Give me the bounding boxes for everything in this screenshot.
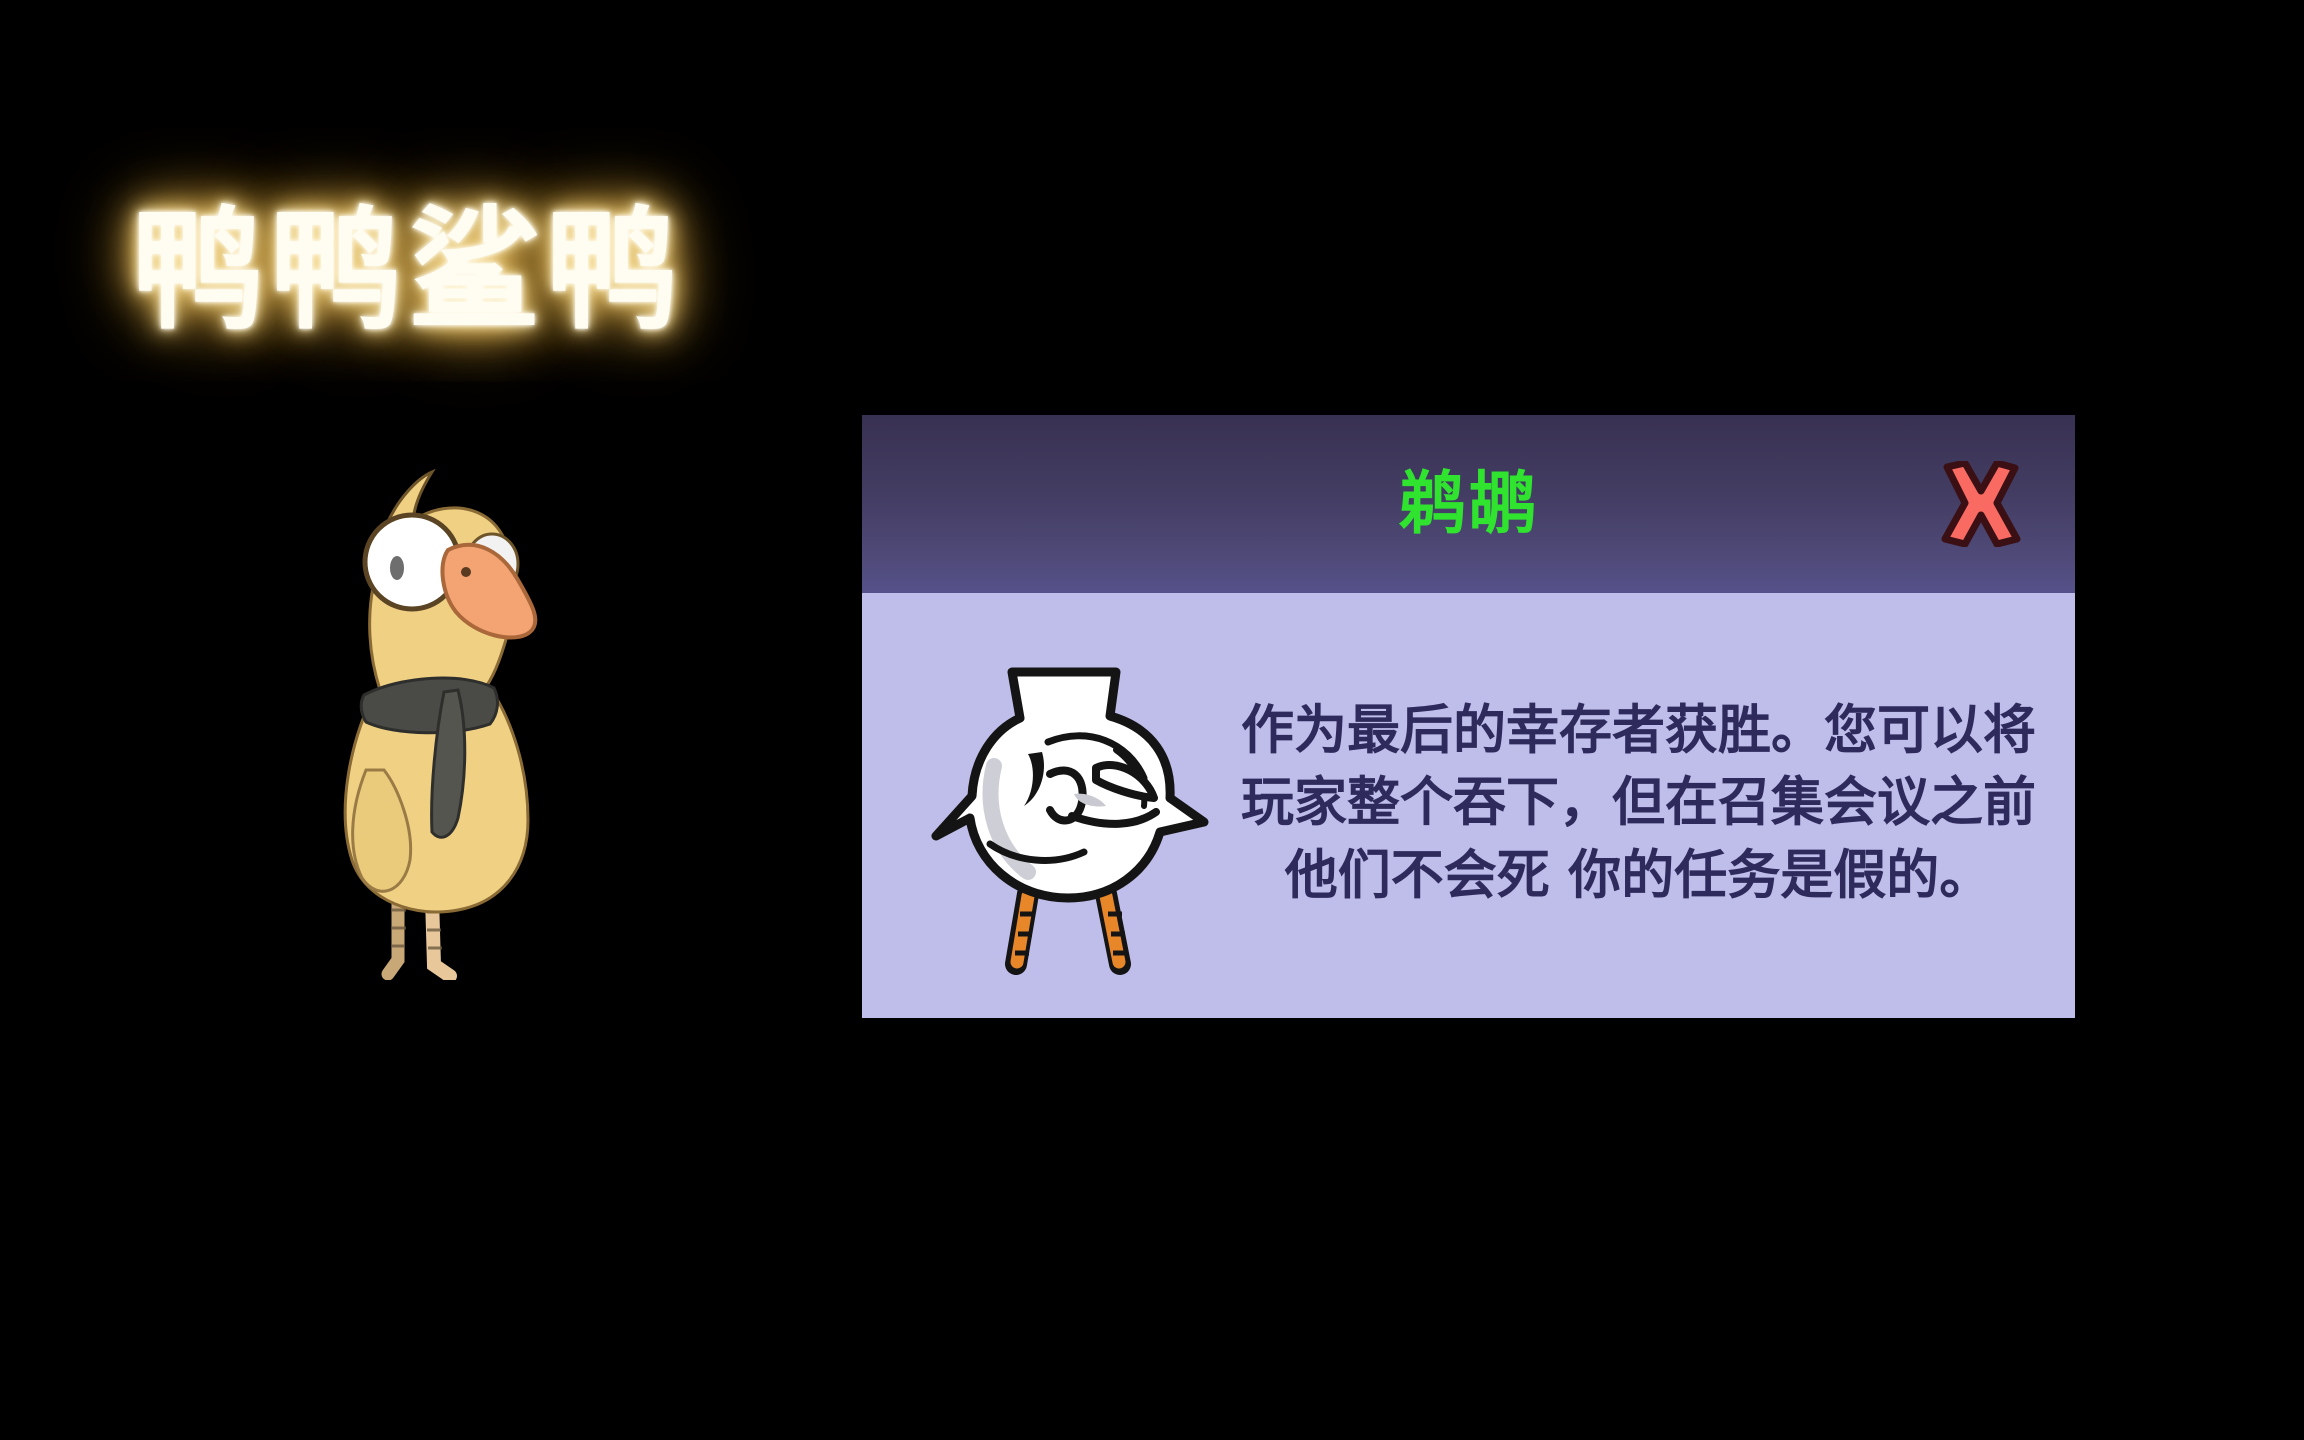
duck-mascot [280, 440, 620, 980]
pelican-body [936, 672, 1204, 898]
pelican-legs [1015, 894, 1127, 964]
dialog-description: 作为最后的幸存者获胜。您可以将玩家整个吞下，但在召集会议之前他们不会死 你的任务… [1220, 695, 2075, 911]
dialog-body: 作为最后的幸存者获胜。您可以将玩家整个吞下，但在召集会议之前他们不会死 你的任务… [862, 593, 2075, 1018]
duck-nostril [461, 567, 471, 577]
pelican-character [920, 646, 1220, 976]
role-info-dialog: 鹈鹕 [862, 415, 2075, 1018]
duck-scarf [361, 678, 497, 733]
dialog-title: 鹈鹕 [1398, 471, 1538, 539]
dialog-header: 鹈鹕 [862, 415, 2075, 593]
duck-pupil [390, 556, 404, 580]
close-x-icon[interactable] [1935, 461, 2027, 547]
game-title: 鸭鸭鲨鸭 [132, 205, 684, 337]
